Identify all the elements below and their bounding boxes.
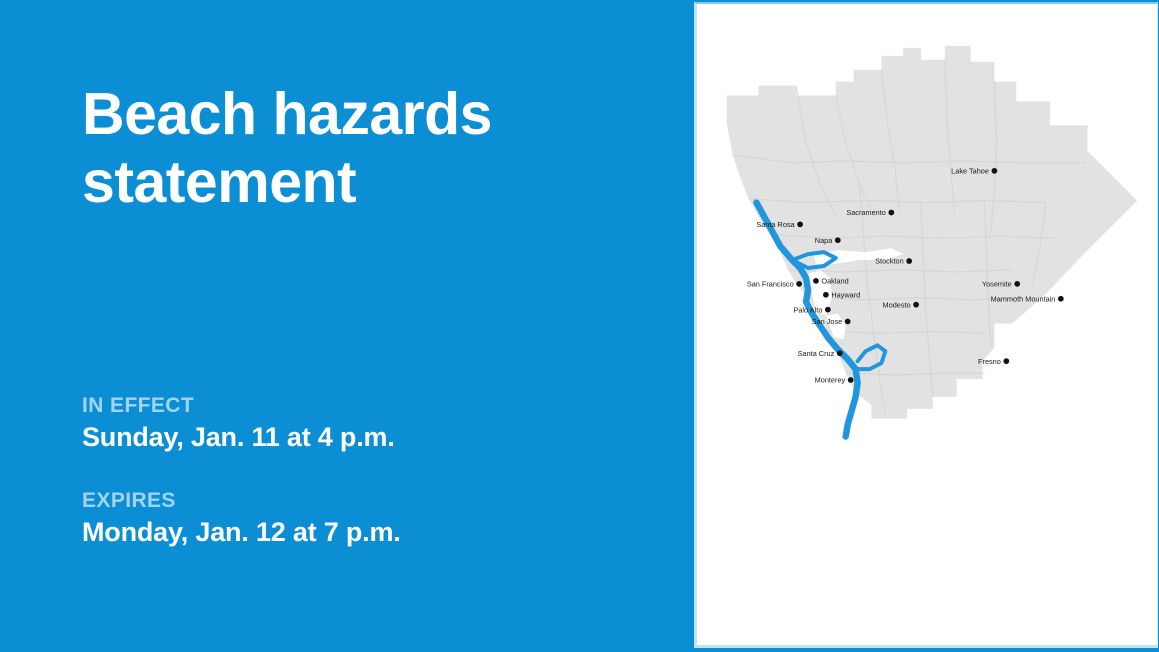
city-dot-icon [888,210,894,216]
city-dot-icon [823,292,829,298]
city-label: Sacramento [846,208,886,217]
city-label: Modesto [883,300,911,309]
in-effect-value: Sunday, Jan. 11 at 4 p.m. [82,420,622,454]
expires-value: Monday, Jan. 12 at 7 p.m. [82,515,622,549]
city-marker: San Francisco [747,280,802,289]
city-label: Santa Cruz [798,349,835,358]
city-dot-icon [848,377,854,383]
map-panel: Lake TahoeSacramentoSanta RosaNapaStockt… [694,2,1158,648]
page-title: Beach hazards statement [82,80,602,216]
city-marker: Mammoth Mountain [991,294,1064,303]
expires-group: EXPIRES Monday, Jan. 12 at 7 p.m. [82,488,622,549]
city-label: Napa [815,236,833,245]
city-label: Fresno [978,357,1001,366]
city-label: Mammoth Mountain [991,294,1056,303]
city-dot-icon [913,302,919,308]
city-label: San Francisco [747,280,794,289]
weather-alert-card: Beach hazards statement IN EFFECT Sunday… [0,0,1159,652]
city-dot-icon [1058,296,1064,302]
city-dot-icon [992,168,998,174]
california-region-map: Lake TahoeSacramentoSanta RosaNapaStockt… [697,4,1157,645]
city-dot-icon [796,281,802,287]
city-dot-icon [835,237,841,243]
alert-timing-block: IN EFFECT Sunday, Jan. 11 at 4 p.m. EXPI… [82,393,622,549]
city-dot-icon [797,221,803,227]
alert-text-column: Beach hazards statement IN EFFECT Sunday… [0,0,694,652]
city-label: Palo Alto [793,305,822,314]
expires-label: EXPIRES [82,488,622,514]
city-dot-icon [837,350,843,356]
city-label: Oakland [821,277,848,286]
in-effect-group: IN EFFECT Sunday, Jan. 11 at 4 p.m. [82,393,622,454]
city-label: Monterey [815,376,846,385]
city-dot-icon [1003,358,1009,364]
city-dot-icon [906,258,912,264]
city-dot-icon [845,319,851,325]
city-marker: Fresno [978,357,1009,366]
in-effect-label: IN EFFECT [82,393,622,419]
city-dot-icon [825,307,831,313]
city-dot-icon [813,278,819,284]
city-dot-icon [1014,281,1020,287]
city-label: Santa Rosa [756,220,795,229]
city-label: San Jose [812,317,843,326]
city-label: Yosemite [982,280,1012,289]
map-landmass [727,46,1137,419]
city-label: Lake Tahoe [951,167,989,176]
city-label: Stockton [875,257,904,266]
city-label: Hayward [831,290,860,299]
